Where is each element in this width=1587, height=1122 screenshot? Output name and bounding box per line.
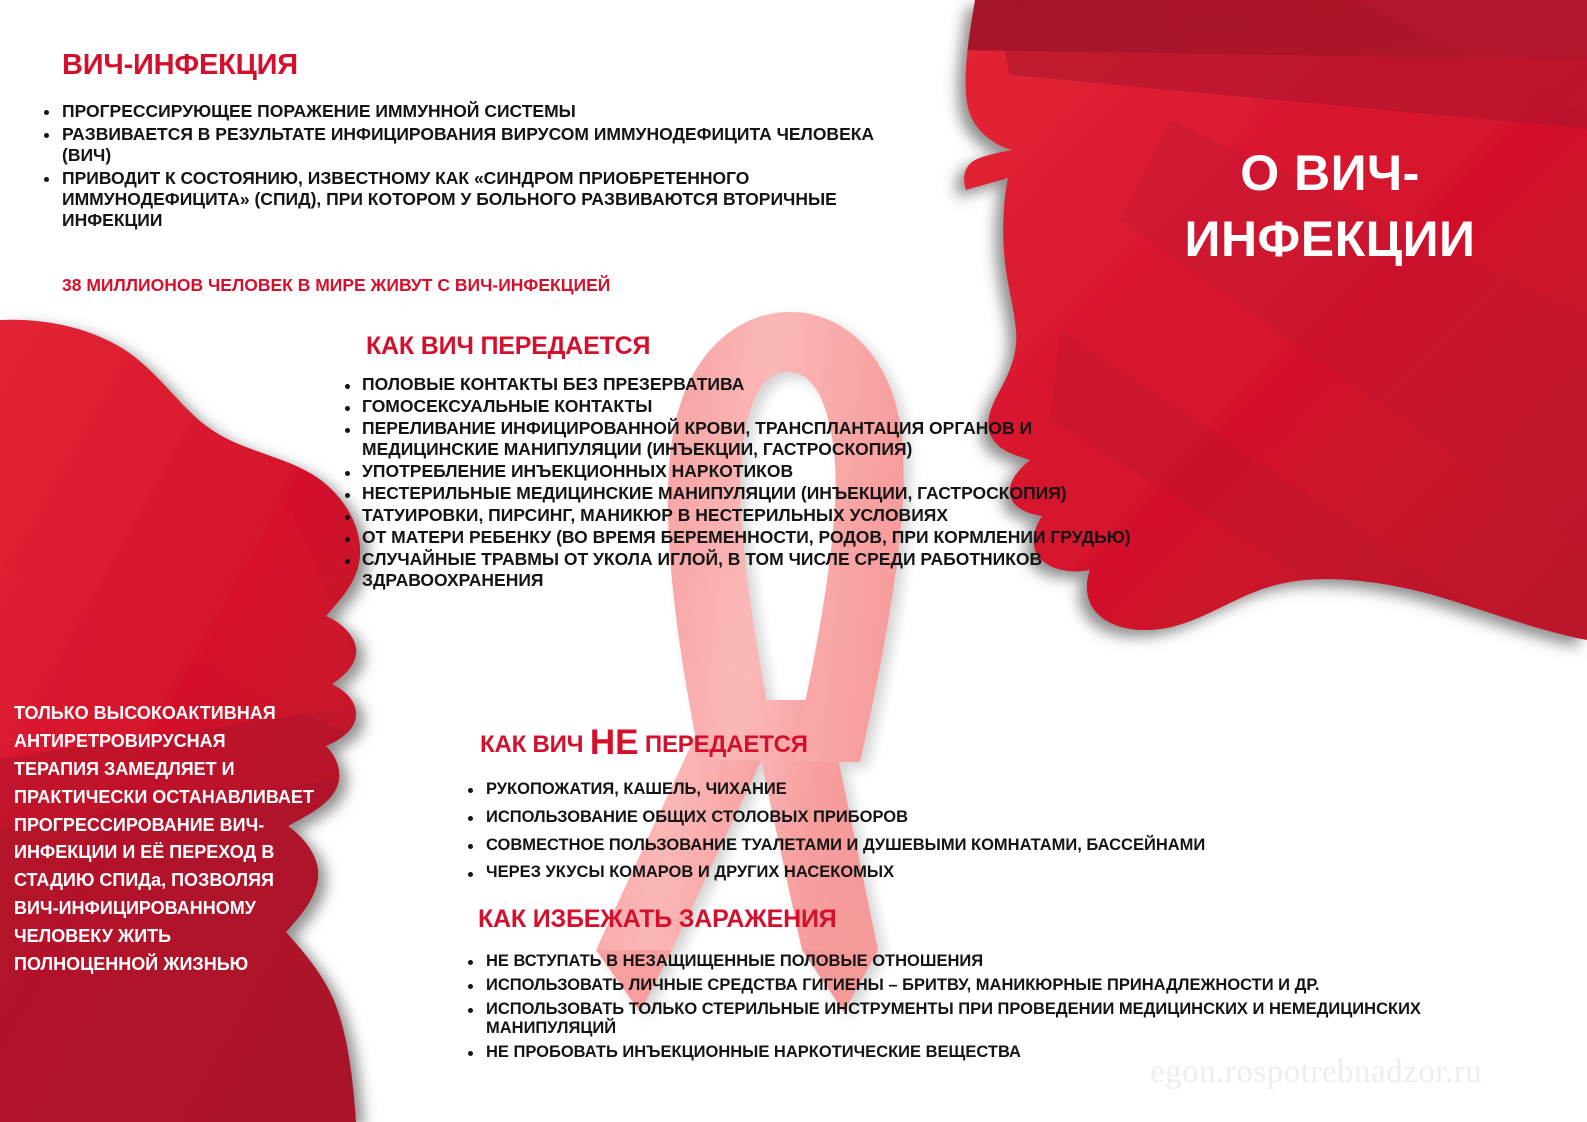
list-item: ИСПОЛЬЗОВАТЬ ТОЛЬКО СТЕРИЛЬНЫЕ ИНСТРУМЕН… (462, 1000, 1522, 1040)
poster-main-title: О ВИЧ- ИНФЕКЦИИ (1110, 140, 1550, 272)
poster-title-line-2: ИНФЕКЦИИ (1110, 206, 1550, 272)
list-item: ЧЕРЕЗ УКУСЫ КОМАРОВ И ДРУГИХ НАСЕКОМЫХ (462, 863, 1422, 883)
heading-text-part-1: КАК ВИЧ (480, 731, 590, 758)
therapy-side-note: ТОЛЬКО ВЫСОКОАКТИВНАЯ АНТИРЕТРОВИРУСНАЯ … (14, 700, 314, 979)
statistic-highlight: 38 МИЛЛИОНОВ ЧЕЛОВЕК В МИРЕ ЖИВУТ С ВИЧ-… (62, 275, 610, 296)
poster-title-line-1: О ВИЧ- (1110, 140, 1550, 206)
intro-bullet-list: ПРОГРЕССИРУЮЩЕЕ ПОРАЖЕНИЕ ИММУННОЙ СИСТЕ… (36, 101, 916, 233)
list-item: ИСПОЛЬЗОВАНИЕ ОБЩИХ СТОЛОВЫХ ПРИБОРОВ (462, 808, 1422, 828)
list-item: РУКОПОЖАТИЯ, КАШЕЛЬ, ЧИХАНИЕ (462, 780, 1422, 800)
heading-emphasis-ne: НЕ (590, 723, 639, 762)
section-heading-not-transmission: КАК ВИЧ НЕ ПЕРЕДАЕТСЯ (480, 725, 808, 762)
list-item: НЕ ВСТУПАТЬ В НЕЗАЩИЩЕННЫЕ ПОЛОВЫЕ ОТНОШ… (462, 952, 1522, 972)
list-item: ПРИВОДИТ К СОСТОЯНИЮ, ИЗВЕСТНОМУ КАК «СИ… (36, 168, 916, 231)
section-heading-transmission: КАК ВИЧ ПЕРЕДАЕТСЯ (366, 333, 650, 359)
transmission-bullet-list: ПОЛОВЫЕ КОНТАКТЫ БЕЗ ПРЕЗЕРВАТИВА ГОМОСЕ… (338, 374, 1138, 592)
prevention-bullet-list: НЕ ВСТУПАТЬ В НЕЗАЩИЩЕННЫЕ ПОЛОВЫЕ ОТНОШ… (462, 952, 1522, 1067)
list-item: ОТ МАТЕРИ РЕБЕНКУ (ВО ВРЕМЯ БЕРЕМЕННОСТИ… (338, 527, 1138, 548)
poster-canvas: ВИЧ-ИНФЕКЦИЯ ПРОГРЕССИРУЮЩЕЕ ПОРАЖЕНИЕ И… (0, 0, 1587, 1122)
list-item: ТАТУИРОВКИ, ПИРСИНГ, МАНИКЮР В НЕСТЕРИЛЬ… (338, 505, 1138, 526)
section-heading-prevention: КАК ИЗБЕЖАТЬ ЗАРАЖЕНИЯ (478, 906, 837, 932)
list-item: РАЗВИВАЕТСЯ В РЕЗУЛЬТАТЕ ИНФИЦИРОВАНИЯ В… (36, 124, 916, 166)
watermark-url: egon.rospotrebnadzor.ru (1150, 1054, 1482, 1091)
list-item: ПЕРЕЛИВАНИЕ ИНФИЦИРОВАННОЙ КРОВИ, ТРАНСП… (338, 418, 1138, 460)
not-transmission-bullet-list: РУКОПОЖАТИЯ, КАШЕЛЬ, ЧИХАНИЕ ИСПОЛЬЗОВАН… (462, 780, 1422, 891)
list-item: ГОМОСЕКСУАЛЬНЫЕ КОНТАКТЫ (338, 396, 1138, 417)
list-item: СОВМЕСТНОЕ ПОЛЬЗОВАНИЕ ТУАЛЕТАМИ И ДУШЕВ… (462, 836, 1422, 856)
list-item: СЛУЧАЙНЫЕ ТРАВМЫ ОТ УКОЛА ИГЛОЙ, В ТОМ Ч… (338, 549, 1138, 591)
list-item: ПРОГРЕССИРУЮЩЕЕ ПОРАЖЕНИЕ ИММУННОЙ СИСТЕ… (36, 101, 916, 122)
heading-text-part-2: ПЕРЕДАЕТСЯ (638, 731, 807, 758)
list-item: ИСПОЛЬЗОВАТЬ ЛИЧНЫЕ СРЕДСТВА ГИГИЕНЫ – Б… (462, 976, 1522, 996)
list-item: УПОТРЕБЛЕНИЕ ИНЪЕКЦИОННЫХ НАРКОТИКОВ (338, 461, 1138, 482)
list-item: ПОЛОВЫЕ КОНТАКТЫ БЕЗ ПРЕЗЕРВАТИВА (338, 374, 1138, 395)
page-title: ВИЧ-ИНФЕКЦИЯ (62, 50, 298, 80)
list-item: НЕСТЕРИЛЬНЫЕ МЕДИЦИНСКИЕ МАНИПУЛЯЦИИ (ИН… (338, 483, 1138, 504)
